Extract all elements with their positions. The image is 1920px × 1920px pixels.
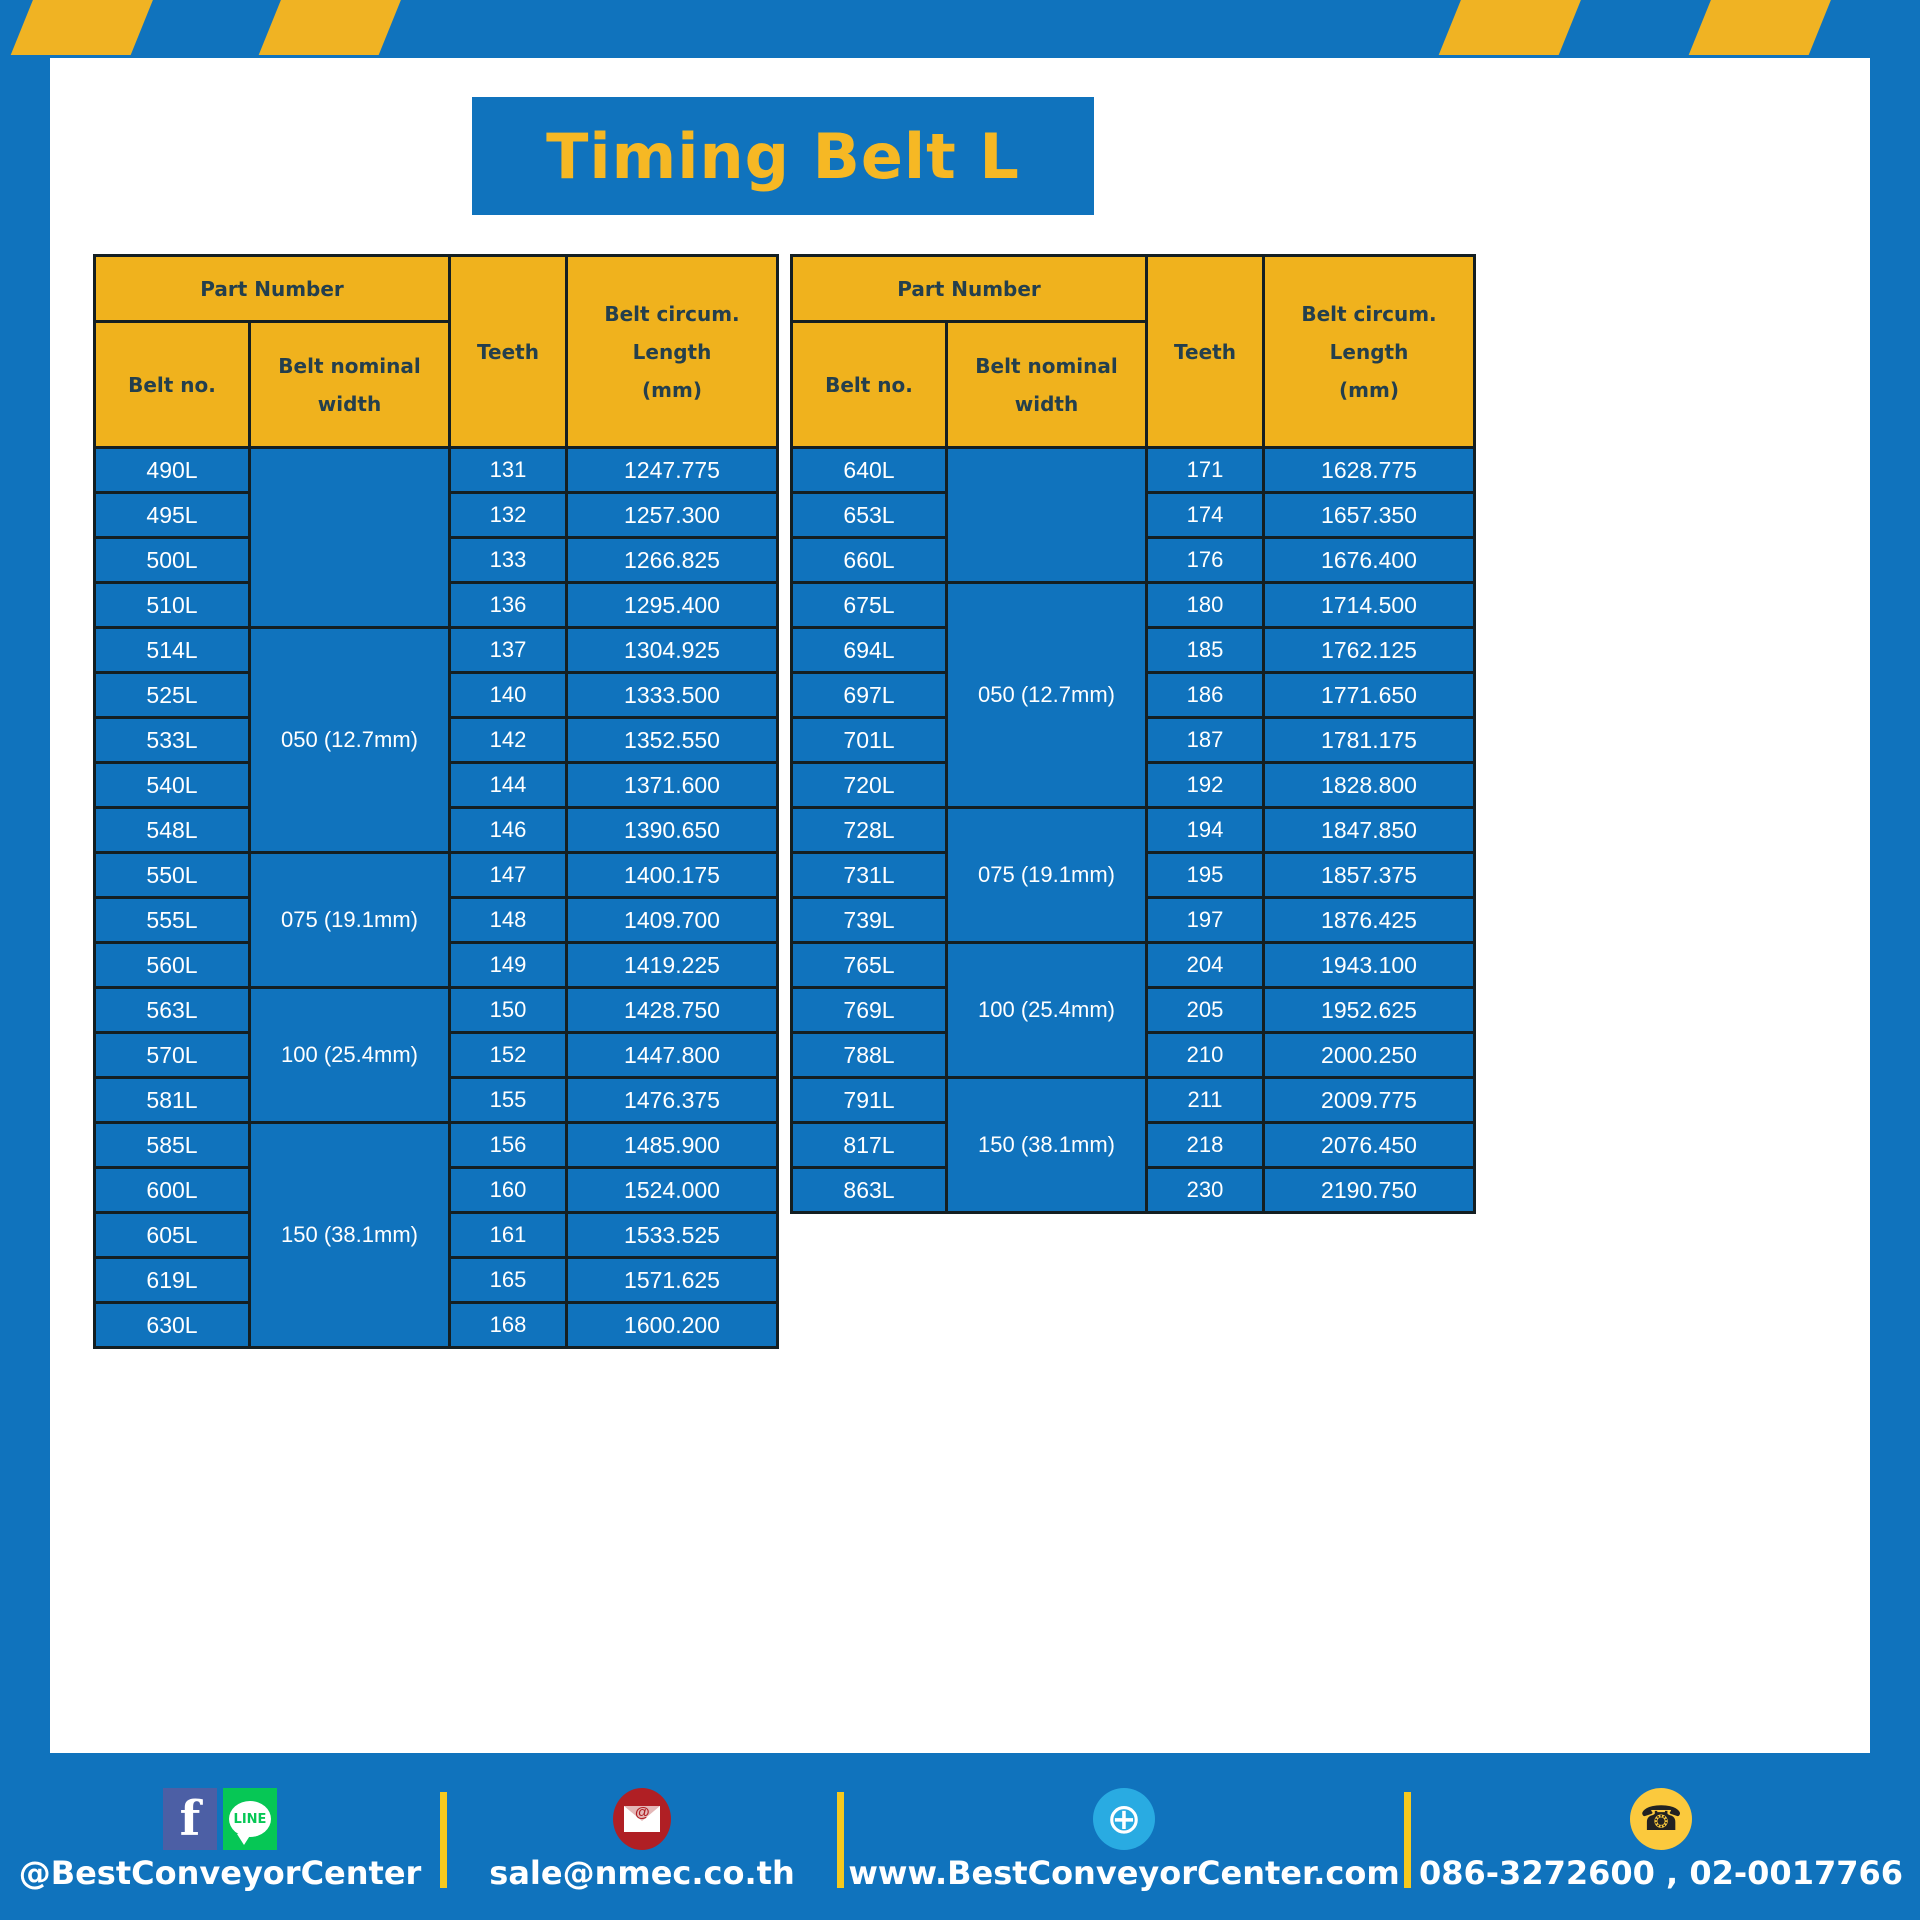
cell-belt-no: 495L: [95, 493, 250, 538]
cell-belt-width: 075 (19.1mm): [250, 853, 450, 988]
cell-length: 1943.100: [1264, 943, 1475, 988]
cell-length: 1781.175: [1264, 718, 1475, 763]
header-belt-circum-line3-left: (mm): [570, 371, 774, 409]
header-belt-circum-line1-left: Belt circum.: [570, 295, 774, 333]
cell-teeth: 187: [1147, 718, 1264, 763]
table-row: 490L1311247.775: [95, 448, 778, 493]
cell-length: 1714.500: [1264, 583, 1475, 628]
cell-belt-no: 731L: [792, 853, 947, 898]
cell-length: 2000.250: [1264, 1033, 1475, 1078]
cell-belt-no: 533L: [95, 718, 250, 763]
footer-phone-group[interactable]: ☎ 086-3272600 , 02-0017766: [1411, 1788, 1911, 1892]
table-head-right: Part Number Teeth Belt circum. Length (m…: [792, 256, 1475, 448]
cell-belt-width-blank: [947, 448, 1147, 583]
table-row: 791L150 (38.1mm)2112009.775: [792, 1078, 1475, 1123]
belt-table-left-wrapper: Part Number Teeth Belt circum. Length (m…: [93, 254, 776, 1349]
table-row: 728L075 (19.1mm)1941847.850: [792, 808, 1475, 853]
header-row-1-left: Part Number Teeth Belt circum. Length (m…: [95, 256, 778, 322]
email-icon[interactable]: @: [613, 1788, 671, 1850]
cell-teeth: 171: [1147, 448, 1264, 493]
cell-belt-no: 675L: [792, 583, 947, 628]
cell-length: 1400.175: [567, 853, 778, 898]
cell-belt-no: 739L: [792, 898, 947, 943]
cell-length: 1304.925: [567, 628, 778, 673]
cell-teeth: 204: [1147, 943, 1264, 988]
cell-belt-no: 640L: [792, 448, 947, 493]
cell-belt-no: 600L: [95, 1168, 250, 1213]
footer-email-icons: @: [613, 1788, 671, 1850]
cell-belt-no: 563L: [95, 988, 250, 1033]
cell-length: 1571.625: [567, 1258, 778, 1303]
cell-length: 1409.700: [567, 898, 778, 943]
cell-belt-no: 697L: [792, 673, 947, 718]
cell-length: 1333.500: [567, 673, 778, 718]
poster-root: Timing Belt L Part Number Teeth Belt cir…: [0, 0, 1920, 1920]
cell-length: 1847.850: [1264, 808, 1475, 853]
table-row: 640L1711628.775: [792, 448, 1475, 493]
cell-belt-width: 050 (12.7mm): [250, 628, 450, 853]
cell-length: 1428.750: [567, 988, 778, 1033]
cell-length: 1762.125: [1264, 628, 1475, 673]
cell-length: 1419.225: [567, 943, 778, 988]
cell-teeth: 136: [450, 583, 567, 628]
table-body-left: 490L1311247.775495L1321257.300500L133126…: [95, 448, 778, 1348]
cell-belt-no: 500L: [95, 538, 250, 583]
cell-belt-no: 619L: [95, 1258, 250, 1303]
cell-teeth: 192: [1147, 763, 1264, 808]
cell-belt-no: 701L: [792, 718, 947, 763]
header-belt-width-line1-right: Belt nominal: [950, 347, 1143, 385]
cell-teeth: 160: [450, 1168, 567, 1213]
cell-length: 2190.750: [1264, 1168, 1475, 1213]
table-row: 550L075 (19.1mm)1471400.175: [95, 853, 778, 898]
top-chevron-decoration: [0, 0, 1920, 55]
cell-teeth: 205: [1147, 988, 1264, 1033]
cell-belt-no: 605L: [95, 1213, 250, 1258]
cell-length: 1676.400: [1264, 538, 1475, 583]
chevron-shape-3: [1437, 0, 1582, 55]
cell-belt-no: 548L: [95, 808, 250, 853]
footer-social-icons: f LINE: [163, 1788, 277, 1850]
table-row: 675L050 (12.7mm)1801714.500: [792, 583, 1475, 628]
cell-belt-no: 863L: [792, 1168, 947, 1213]
table-row: 514L050 (12.7mm)1371304.925: [95, 628, 778, 673]
cell-teeth: 168: [450, 1303, 567, 1348]
cell-belt-no: 585L: [95, 1123, 250, 1168]
footer-divider-1: [440, 1792, 447, 1888]
cell-length: 2009.775: [1264, 1078, 1475, 1123]
table-body-right: 640L1711628.775653L1741657.350660L176167…: [792, 448, 1475, 1213]
cell-belt-no: 550L: [95, 853, 250, 898]
cell-length: 1485.900: [567, 1123, 778, 1168]
cell-length: 1952.625: [1264, 988, 1475, 1033]
cell-belt-no: 728L: [792, 808, 947, 853]
chevron-shape-1: [9, 0, 154, 55]
footer-social-group[interactable]: f LINE @BestConveyorCenter: [0, 1788, 440, 1892]
cell-length: 1247.775: [567, 448, 778, 493]
header-belt-width-line2-right: width: [950, 385, 1143, 423]
cell-teeth: 186: [1147, 673, 1264, 718]
belt-table-left: Part Number Teeth Belt circum. Length (m…: [93, 254, 779, 1349]
cell-belt-no: 817L: [792, 1123, 947, 1168]
cell-belt-width: 075 (19.1mm): [947, 808, 1147, 943]
line-icon[interactable]: LINE: [223, 1788, 277, 1850]
cell-belt-width-blank: [250, 448, 450, 628]
cell-belt-no: 490L: [95, 448, 250, 493]
cell-teeth: 197: [1147, 898, 1264, 943]
cell-length: 1447.800: [567, 1033, 778, 1078]
cell-teeth: 211: [1147, 1078, 1264, 1123]
cell-belt-no: 720L: [792, 763, 947, 808]
cell-belt-width: 150 (38.1mm): [947, 1078, 1147, 1213]
chevron-shape-4: [1687, 0, 1832, 55]
cell-teeth: 180: [1147, 583, 1264, 628]
header-belt-width-line2-left: width: [253, 385, 446, 423]
cell-teeth: 132: [450, 493, 567, 538]
cell-teeth: 174: [1147, 493, 1264, 538]
facebook-icon[interactable]: f: [163, 1788, 217, 1850]
cell-belt-width: 050 (12.7mm): [947, 583, 1147, 808]
header-belt-circum-right: Belt circum. Length (mm): [1264, 256, 1475, 448]
cell-belt-width: 100 (25.4mm): [250, 988, 450, 1123]
cell-length: 1657.350: [1264, 493, 1475, 538]
cell-length: 1857.375: [1264, 853, 1475, 898]
cell-teeth: 142: [450, 718, 567, 763]
cell-teeth: 137: [450, 628, 567, 673]
cell-teeth: 230: [1147, 1168, 1264, 1213]
cell-belt-no: 660L: [792, 538, 947, 583]
header-part-number-left: Part Number: [95, 256, 450, 322]
footer-social-label: @BestConveyorCenter: [19, 1854, 422, 1892]
header-belt-no-left: Belt no.: [95, 322, 250, 448]
cell-teeth: 133: [450, 538, 567, 583]
footer-phone-label: 086-3272600 , 02-0017766: [1419, 1854, 1903, 1892]
cell-length: 1600.200: [567, 1303, 778, 1348]
footer-website-label: www.BestConveyorCenter.com: [848, 1854, 1399, 1892]
cell-teeth: 152: [450, 1033, 567, 1078]
globe-icon[interactable]: ⊕: [1093, 1788, 1155, 1850]
header-belt-width-right: Belt nominal width: [947, 322, 1147, 448]
phone-icon[interactable]: ☎: [1630, 1788, 1692, 1850]
cell-belt-no: 514L: [95, 628, 250, 673]
header-teeth-right: Teeth: [1147, 256, 1264, 448]
header-row-1-right: Part Number Teeth Belt circum. Length (m…: [792, 256, 1475, 322]
page-title-text: Timing Belt L: [546, 120, 1020, 193]
footer-divider-2: [837, 1792, 844, 1888]
cell-teeth: 156: [450, 1123, 567, 1168]
cell-length: 1628.775: [1264, 448, 1475, 493]
header-belt-circum-line2-left: Length: [570, 333, 774, 371]
header-belt-width-left: Belt nominal width: [250, 322, 450, 448]
cell-length: 1266.825: [567, 538, 778, 583]
cell-teeth: 161: [450, 1213, 567, 1258]
header-belt-width-line1-left: Belt nominal: [253, 347, 446, 385]
cell-teeth: 210: [1147, 1033, 1264, 1078]
cell-belt-no: 540L: [95, 763, 250, 808]
cell-teeth: 218: [1147, 1123, 1264, 1168]
cell-teeth: 176: [1147, 538, 1264, 583]
contact-footer: f LINE @BestConveyorCenter @ sale@nmec.c…: [0, 1760, 1920, 1920]
cell-length: 1771.650: [1264, 673, 1475, 718]
cell-length: 1876.425: [1264, 898, 1475, 943]
table-row: 585L150 (38.1mm)1561485.900: [95, 1123, 778, 1168]
table-head-left: Part Number Teeth Belt circum. Length (m…: [95, 256, 778, 448]
cell-length: 1295.400: [567, 583, 778, 628]
cell-belt-no: 525L: [95, 673, 250, 718]
cell-length: 1533.525: [567, 1213, 778, 1258]
chevron-shape-2: [257, 0, 402, 55]
cell-teeth: 144: [450, 763, 567, 808]
cell-teeth: 147: [450, 853, 567, 898]
cell-teeth: 165: [450, 1258, 567, 1303]
cell-teeth: 185: [1147, 628, 1264, 673]
header-part-number-right: Part Number: [792, 256, 1147, 322]
cell-length: 1257.300: [567, 493, 778, 538]
cell-belt-no: 570L: [95, 1033, 250, 1078]
cell-length: 1371.600: [567, 763, 778, 808]
footer-phone-icons: ☎: [1630, 1788, 1692, 1850]
cell-belt-no: 560L: [95, 943, 250, 988]
cell-belt-width: 100 (25.4mm): [947, 943, 1147, 1078]
cell-teeth: 194: [1147, 808, 1264, 853]
page-title: Timing Belt L: [472, 97, 1094, 215]
cell-belt-no: 765L: [792, 943, 947, 988]
header-belt-circum-left: Belt circum. Length (mm): [567, 256, 778, 448]
footer-website-group[interactable]: ⊕ www.BestConveyorCenter.com: [844, 1788, 1404, 1892]
cell-teeth: 155: [450, 1078, 567, 1123]
header-belt-circum-line3-right: (mm): [1267, 371, 1471, 409]
cell-teeth: 146: [450, 808, 567, 853]
cell-belt-no: 581L: [95, 1078, 250, 1123]
cell-length: 2076.450: [1264, 1123, 1475, 1168]
footer-email-group[interactable]: @ sale@nmec.co.th: [447, 1788, 837, 1892]
cell-teeth: 148: [450, 898, 567, 943]
cell-belt-no: 510L: [95, 583, 250, 628]
cell-teeth: 140: [450, 673, 567, 718]
cell-length: 1476.375: [567, 1078, 778, 1123]
cell-belt-no: 555L: [95, 898, 250, 943]
header-belt-circum-line2-right: Length: [1267, 333, 1471, 371]
cell-belt-no: 630L: [95, 1303, 250, 1348]
cell-length: 1390.650: [567, 808, 778, 853]
footer-website-icons: ⊕: [1093, 1788, 1155, 1850]
cell-belt-no: 769L: [792, 988, 947, 1033]
footer-divider-3: [1404, 1792, 1411, 1888]
cell-belt-no: 788L: [792, 1033, 947, 1078]
cell-belt-no: 694L: [792, 628, 947, 673]
cell-teeth: 149: [450, 943, 567, 988]
cell-teeth: 131: [450, 448, 567, 493]
cell-teeth: 150: [450, 988, 567, 1033]
header-teeth-left: Teeth: [450, 256, 567, 448]
belt-table-right-wrapper: Part Number Teeth Belt circum. Length (m…: [790, 254, 1474, 1214]
cell-length: 1352.550: [567, 718, 778, 763]
cell-belt-width: 150 (38.1mm): [250, 1123, 450, 1348]
cell-teeth: 195: [1147, 853, 1264, 898]
cell-length: 1524.000: [567, 1168, 778, 1213]
cell-belt-no: 653L: [792, 493, 947, 538]
header-belt-circum-line1-right: Belt circum.: [1267, 295, 1471, 333]
footer-email-label: sale@nmec.co.th: [489, 1854, 794, 1892]
table-row: 563L100 (25.4mm)1501428.750: [95, 988, 778, 1033]
table-row: 765L100 (25.4mm)2041943.100: [792, 943, 1475, 988]
cell-length: 1828.800: [1264, 763, 1475, 808]
cell-belt-no: 791L: [792, 1078, 947, 1123]
belt-table-right: Part Number Teeth Belt circum. Length (m…: [790, 254, 1476, 1214]
header-belt-no-right: Belt no.: [792, 322, 947, 448]
